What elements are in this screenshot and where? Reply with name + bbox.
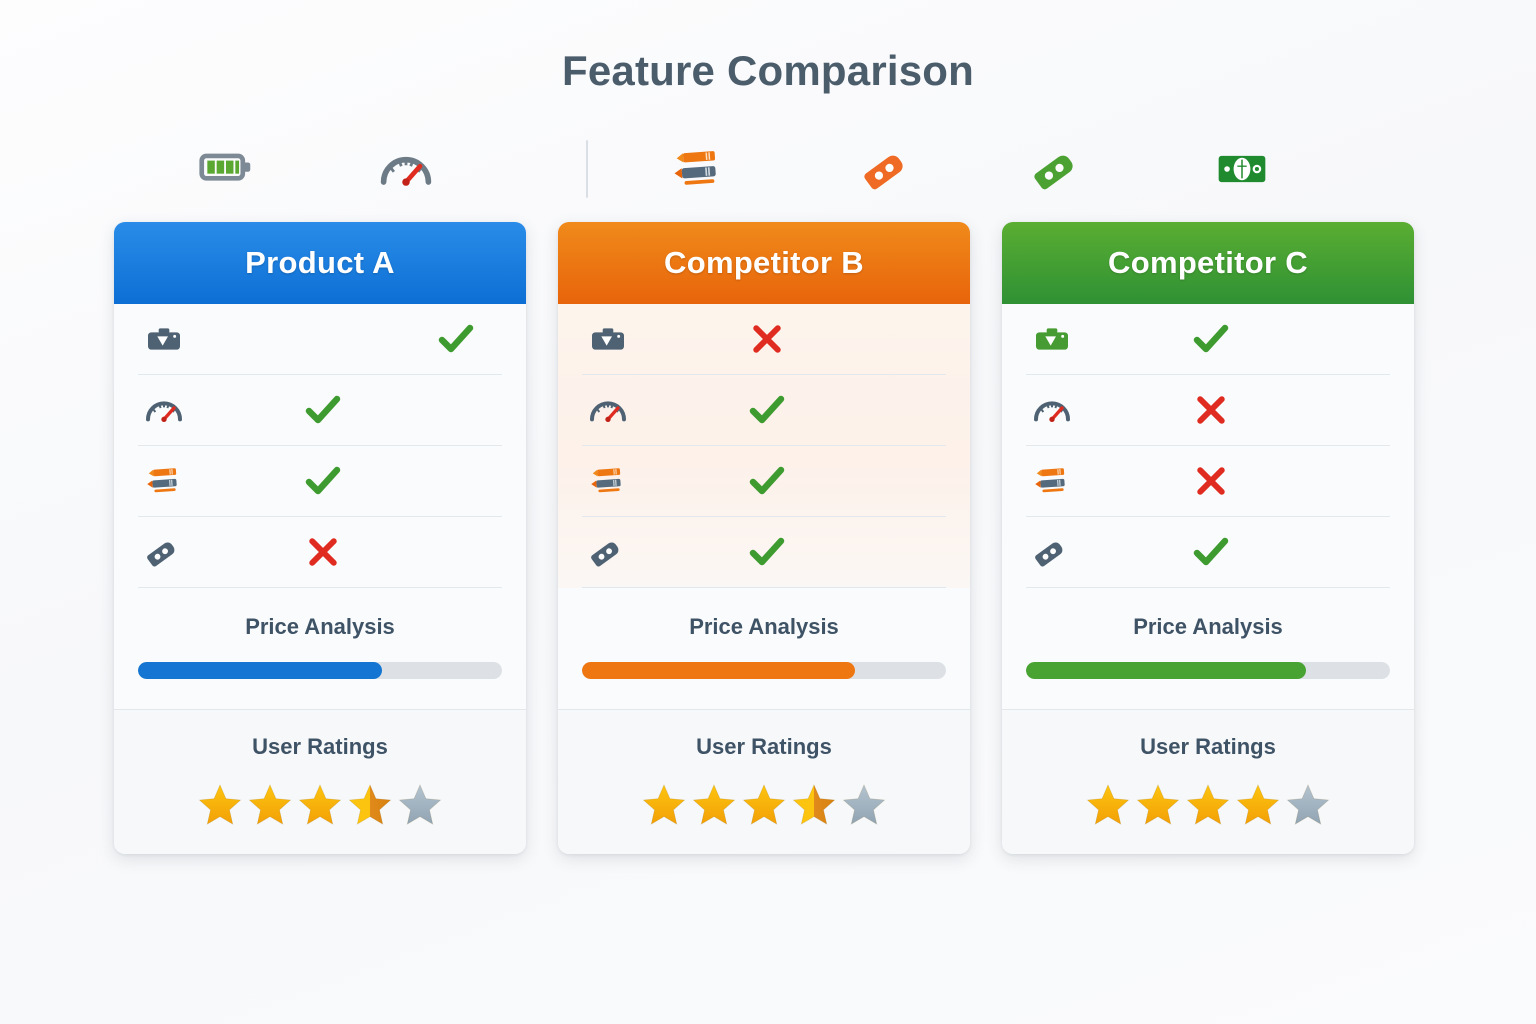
feature-row	[1026, 304, 1390, 375]
feature-row	[1026, 517, 1390, 588]
price-analysis-section: Price Analysis	[114, 588, 526, 710]
rating-star[interactable]	[741, 782, 787, 828]
price-analysis-label: Price Analysis	[582, 614, 946, 640]
rating-star[interactable]	[641, 782, 687, 828]
feature-row	[138, 446, 502, 517]
user-ratings-section: User Ratings	[558, 710, 970, 854]
feature-list	[114, 304, 526, 588]
rating-star[interactable]	[791, 782, 837, 828]
price-tag-icon	[582, 529, 634, 575]
cross-icon	[1188, 387, 1234, 433]
strip-divider	[586, 140, 588, 198]
price-tag-orange-icon	[848, 133, 928, 205]
card-header-competitor-b: Competitor B	[558, 222, 970, 304]
rating-star[interactable]	[691, 782, 737, 828]
feature-row	[582, 446, 946, 517]
comparison-card-competitor-c[interactable]: Competitor C	[1002, 222, 1414, 854]
price-analysis-label: Price Analysis	[1026, 614, 1390, 640]
check-icon	[1188, 529, 1234, 575]
price-tag-icon	[138, 529, 190, 575]
rating-star[interactable]	[1185, 782, 1231, 828]
check-icon	[300, 458, 346, 504]
rating-star[interactable]	[247, 782, 293, 828]
cross-icon	[1188, 458, 1234, 504]
feature-row	[138, 304, 502, 375]
user-ratings-section: User Ratings	[114, 710, 526, 854]
user-ratings-label: User Ratings	[582, 734, 946, 760]
rating-star[interactable]	[197, 782, 243, 828]
feature-row	[138, 375, 502, 446]
feature-row	[1026, 446, 1390, 517]
pencils-icon	[1026, 458, 1078, 504]
price-tag-icon	[1026, 529, 1078, 575]
rating-star[interactable]	[1085, 782, 1131, 828]
speedometer-icon	[1026, 387, 1078, 433]
speedometer-icon	[138, 387, 190, 433]
page-title: Feature Comparison	[0, 47, 1536, 95]
check-icon	[433, 316, 479, 362]
price-progress-fill	[1026, 662, 1306, 679]
cross-icon	[300, 529, 346, 575]
star-rating[interactable]	[582, 782, 946, 828]
rating-star[interactable]	[1235, 782, 1281, 828]
check-icon	[1188, 316, 1234, 362]
feature-list	[558, 304, 970, 588]
feature-row	[138, 517, 502, 588]
card-title: Competitor B	[664, 245, 864, 281]
pencils-icon	[138, 458, 190, 504]
price-progress-fill	[138, 662, 382, 679]
camera-icon	[1026, 316, 1078, 362]
price-progress-track[interactable]	[582, 662, 946, 679]
user-ratings-label: User Ratings	[1026, 734, 1390, 760]
comparison-card-product-a[interactable]: Product A	[114, 222, 526, 854]
money-note-icon	[1202, 133, 1282, 205]
feature-icon-strip	[0, 133, 1536, 205]
comparison-cards: Product A	[0, 222, 1536, 862]
user-ratings-section: User Ratings	[1002, 710, 1414, 854]
price-progress-track[interactable]	[1026, 662, 1390, 679]
card-header-competitor-c: Competitor C	[1002, 222, 1414, 304]
battery-icon	[186, 133, 266, 205]
camera-icon	[582, 316, 634, 362]
card-title: Product A	[245, 245, 395, 281]
check-icon	[744, 387, 790, 433]
star-rating[interactable]	[138, 782, 502, 828]
comparison-card-competitor-b[interactable]: Competitor B	[558, 222, 970, 854]
price-tag-green-icon	[1018, 133, 1098, 205]
feature-row	[1026, 375, 1390, 446]
price-analysis-section: Price Analysis	[558, 588, 970, 710]
feature-row	[582, 375, 946, 446]
price-analysis-section: Price Analysis	[1002, 588, 1414, 710]
check-icon	[744, 529, 790, 575]
pencils-icon	[582, 458, 634, 504]
rating-star[interactable]	[397, 782, 443, 828]
camera-icon	[138, 316, 190, 362]
rating-star[interactable]	[841, 782, 887, 828]
rating-star[interactable]	[297, 782, 343, 828]
price-progress-fill	[582, 662, 855, 679]
feature-row	[582, 517, 946, 588]
speedometer-icon	[582, 387, 634, 433]
feature-list	[1002, 304, 1414, 588]
pencils-icon	[658, 133, 738, 205]
cross-icon	[744, 316, 790, 362]
rating-star[interactable]	[1285, 782, 1331, 828]
user-ratings-label: User Ratings	[138, 734, 502, 760]
feature-row	[582, 304, 946, 375]
speedometer-icon	[366, 133, 446, 205]
card-header-product-a: Product A	[114, 222, 526, 304]
card-title: Competitor C	[1108, 245, 1308, 281]
price-progress-track[interactable]	[138, 662, 502, 679]
star-rating[interactable]	[1026, 782, 1390, 828]
price-analysis-label: Price Analysis	[138, 614, 502, 640]
rating-star[interactable]	[1135, 782, 1181, 828]
rating-star[interactable]	[347, 782, 393, 828]
check-icon	[744, 458, 790, 504]
check-icon	[300, 387, 346, 433]
